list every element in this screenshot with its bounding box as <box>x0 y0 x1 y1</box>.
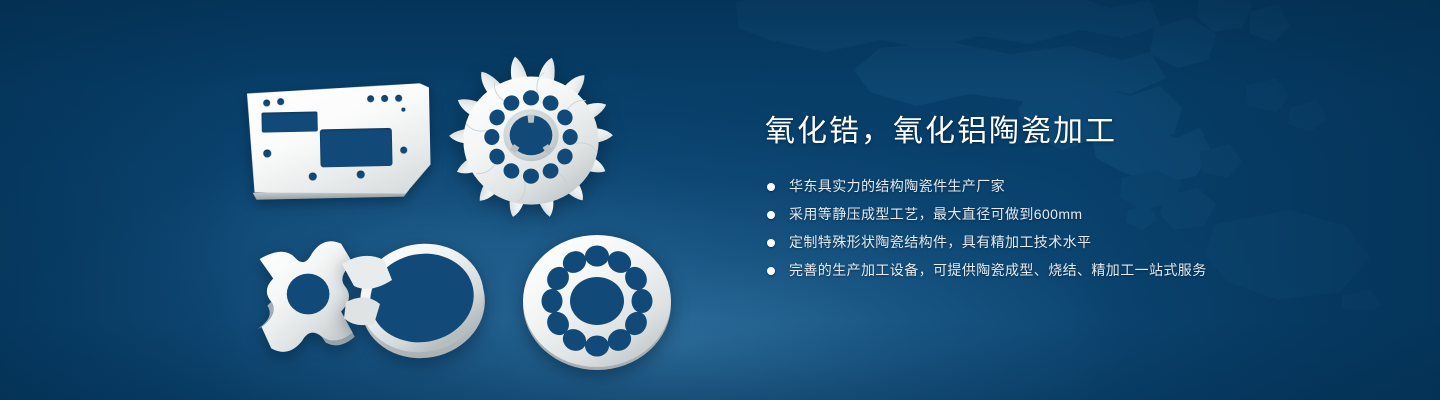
ceramic-plate <box>247 83 431 197</box>
bullet-dot-icon <box>767 211 775 219</box>
list-item-label: 采用等静压成型工艺，最大直径可做到600mm <box>789 206 1082 222</box>
bullet-dot-icon <box>767 267 775 275</box>
hero-banner: 氧化锆，氧化铝陶瓷加工 华东具实力的结构陶瓷件生产厂家 采用等静压成型工艺，最大… <box>0 0 1440 400</box>
plate-hole <box>400 147 407 154</box>
plate-hole <box>263 99 270 106</box>
list-item: 华东具实力的结构陶瓷件生产厂家 <box>767 176 1325 197</box>
product-image-group <box>230 40 710 380</box>
page-title: 氧化锆，氧化铝陶瓷加工 <box>765 112 1325 152</box>
list-item: 定制特殊形状陶瓷结构件，具有精加工技术水平 <box>767 232 1325 253</box>
plate-cutout-left <box>261 111 317 132</box>
list-item-label: 完善的生产加工设备，可提供陶瓷成型、烧结、精加工一站式服务 <box>789 262 1207 278</box>
banner-copy: 氧化锆，氧化铝陶瓷加工 华东具实力的结构陶瓷件生产厂家 采用等静压成型工艺，最大… <box>765 112 1325 288</box>
ceramic-ring <box>340 228 504 368</box>
ceramic-impeller <box>442 48 620 226</box>
plate-cutout-center <box>320 128 393 167</box>
ceramic-holed-disc <box>520 230 674 372</box>
bullet-dot-icon <box>767 239 775 247</box>
plate-hole <box>401 108 405 112</box>
list-item-label: 华东具实力的结构陶瓷件生产厂家 <box>789 178 1005 194</box>
plate-hole <box>277 98 284 105</box>
feature-list: 华东具实力的结构陶瓷件生产厂家 采用等静压成型工艺，最大直径可做到600mm 定… <box>767 176 1325 281</box>
list-item: 采用等静压成型工艺，最大直径可做到600mm <box>767 204 1325 225</box>
list-item-label: 定制特殊形状陶瓷结构件，具有精加工技术水平 <box>789 234 1091 250</box>
plate-hole <box>395 95 402 102</box>
bullet-dot-icon <box>767 183 775 191</box>
list-item: 完善的生产加工设备，可提供陶瓷成型、烧结、精加工一站式服务 <box>767 260 1325 281</box>
